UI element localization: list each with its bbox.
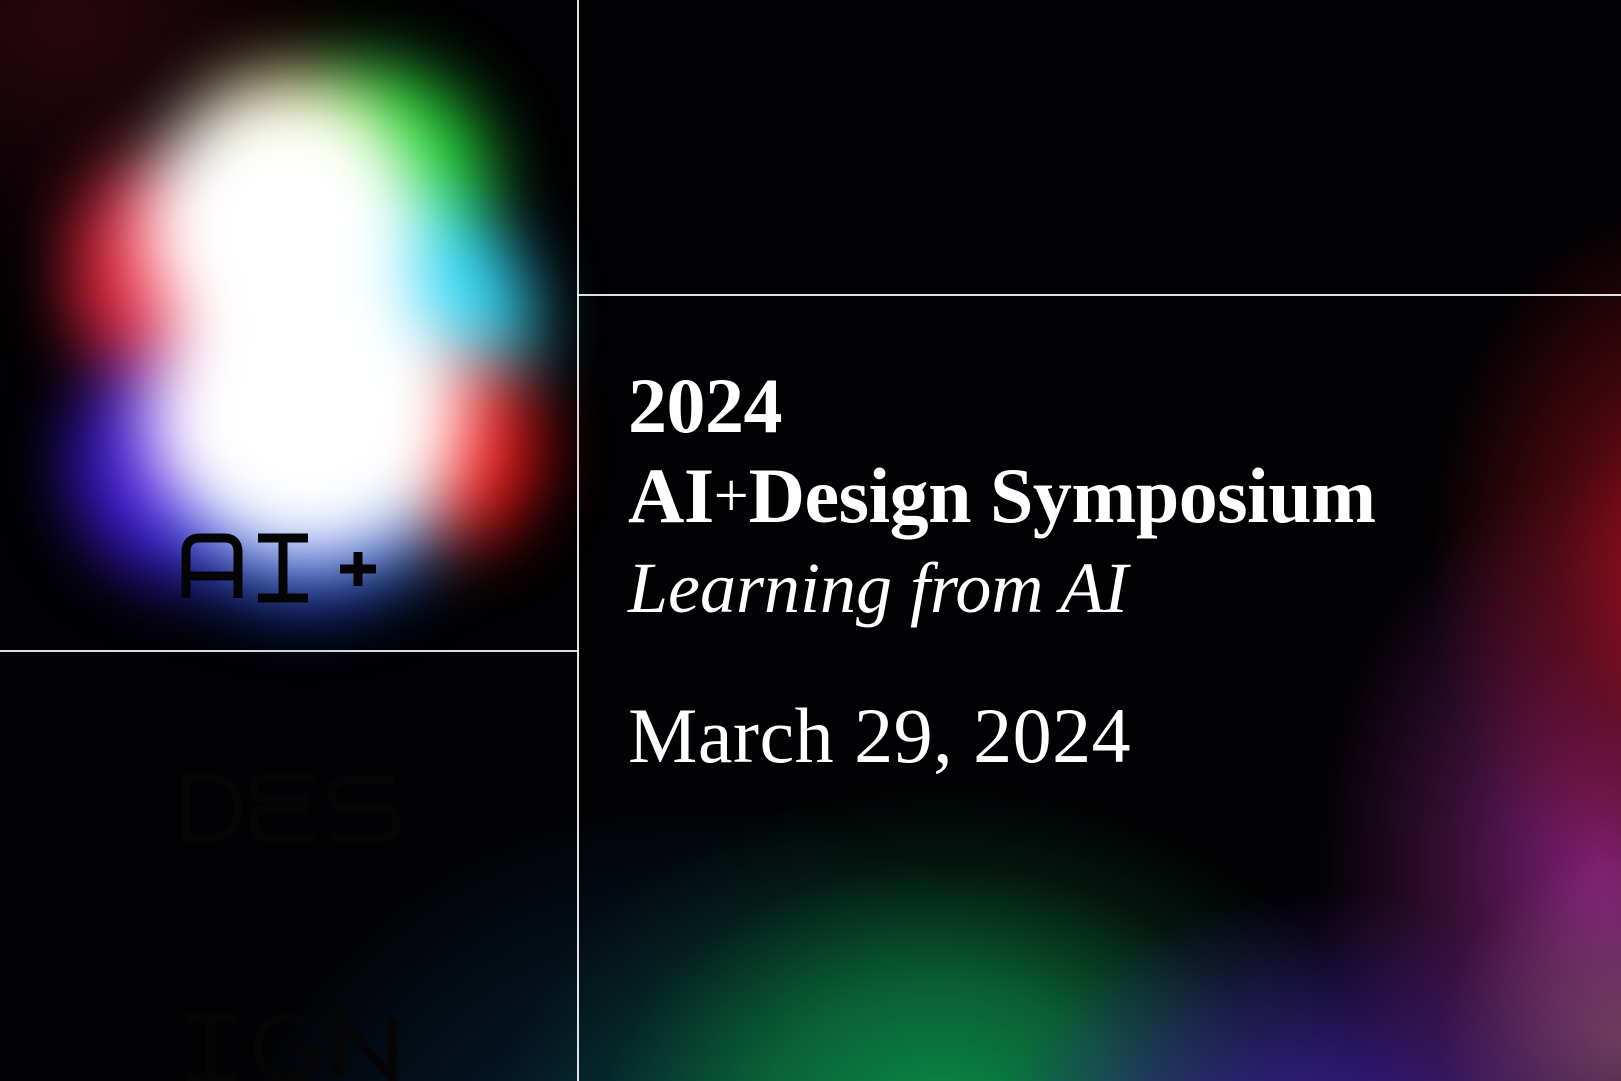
logo [32, 46, 532, 576]
title-design-symposium: Design Symposium [749, 452, 1376, 539]
logo-line-3 [180, 846, 543, 926]
divider-horizontal-right [577, 294, 1621, 296]
event-details: 2024 AI+Design Symposium Learning from A… [628, 360, 1448, 782]
event-date: March 29, 2024 [628, 690, 1448, 782]
logo-wordmark [180, 206, 543, 1081]
title-event-name: AI+Design Symposium [628, 452, 1448, 540]
title-tagline: Learning from AI [628, 540, 1448, 636]
title-year: 2024 [628, 360, 1448, 452]
title-ai: AI [628, 452, 714, 539]
page-title: 2024 AI+Design Symposium Learning from A… [628, 360, 1448, 636]
logo-line-2 [180, 606, 543, 686]
logo-line-1 [180, 366, 543, 446]
title-plus-sign: + [714, 462, 749, 530]
divider-vertical [577, 0, 579, 1081]
poster-canvas: 2024 AI+Design Symposium Learning from A… [0, 0, 1621, 1081]
